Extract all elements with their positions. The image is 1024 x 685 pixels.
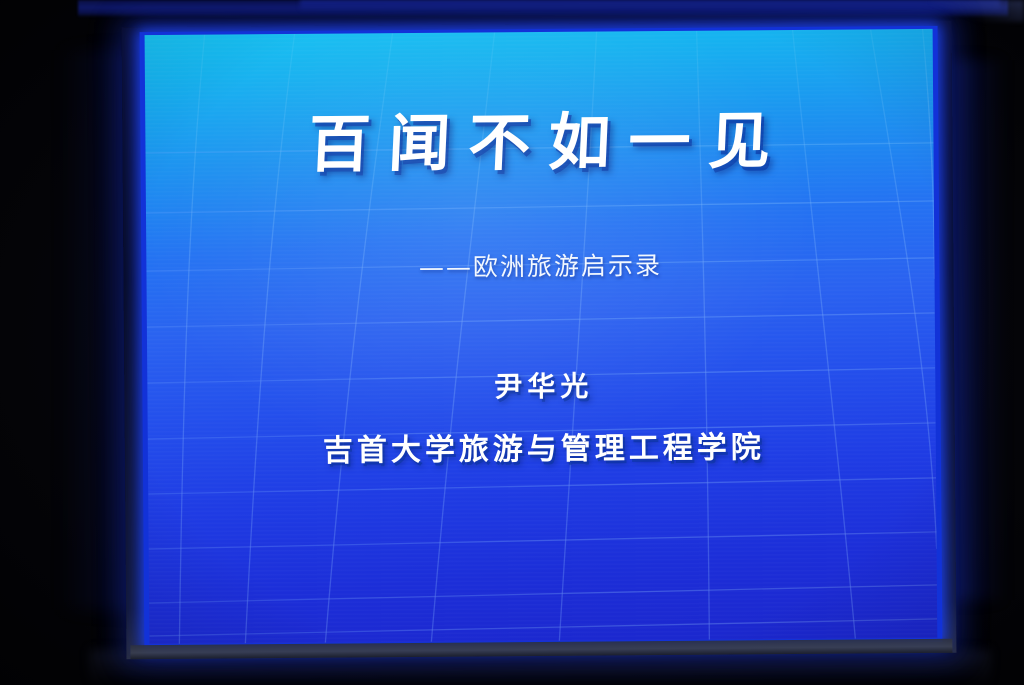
ceiling-light-spill-secondary xyxy=(300,0,1000,11)
slide-subtitle: ——欧洲旅游启示录 xyxy=(146,244,934,286)
ceiling-corner-highlight xyxy=(930,0,1024,22)
slide-title: 百闻不如一见 xyxy=(145,107,935,178)
projection-room-photo: 百闻不如一见 ——欧洲旅游启示录 尹华光 吉首大学旅游与管理工程学院 xyxy=(0,0,1024,685)
presenter-affiliation: 吉首大学旅游与管理工程学院 xyxy=(148,421,936,471)
projection-screen-frame: 百闻不如一见 ——欧洲旅游启示录 尹华光 吉首大学旅游与管理工程学院 xyxy=(122,21,957,659)
presenter-name: 尹华光 xyxy=(147,362,935,408)
slide-text-layer: 百闻不如一见 ——欧洲旅游启示录 尹华光 吉首大学旅游与管理工程学院 xyxy=(145,29,938,644)
presentation-slide: 百闻不如一见 ——欧洲旅游启示录 尹华光 吉首大学旅游与管理工程学院 xyxy=(145,29,938,644)
wall-glow-right xyxy=(952,60,1024,600)
